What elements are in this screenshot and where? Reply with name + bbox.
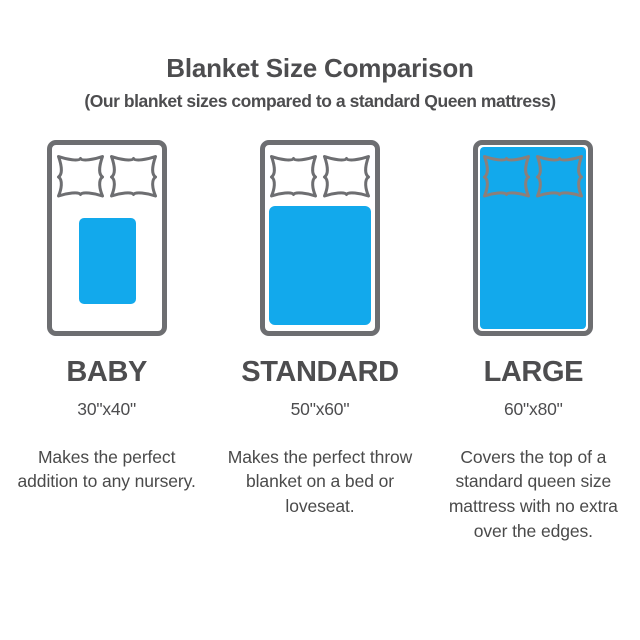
comparison-column-baby: BABY 30"x40" Makes the perfect addition … (0, 140, 213, 494)
size-name-label: BABY (66, 358, 147, 387)
comparison-column-standard: STANDARD 50"x60" Makes the perfect throw… (213, 140, 426, 519)
blanket-size-comparison-infographic: Blanket Size Comparison (Our blanket siz… (0, 0, 640, 640)
size-description-text: Covers the top of a standard queen size … (427, 445, 640, 544)
blanket-swatch-icon (269, 206, 371, 325)
page-title: Blanket Size Comparison (0, 54, 640, 83)
pillow-icon (534, 152, 585, 200)
pillow-icon (108, 152, 159, 200)
size-description-text: Makes the perfect throw blanket on a bed… (213, 445, 426, 520)
pillow-icon (321, 152, 372, 200)
size-description-text: Makes the perfect addition to any nurser… (0, 445, 213, 495)
size-dimensions-label: 30"x40" (77, 401, 136, 419)
pillow-icon (55, 152, 106, 200)
pillow-group (268, 152, 372, 200)
size-dimensions-label: 50"x60" (291, 401, 350, 419)
pillow-icon (268, 152, 319, 200)
size-name-label: LARGE (484, 358, 584, 387)
bed-diagram-large (473, 140, 593, 336)
pillow-group (55, 152, 159, 200)
bed-diagram-baby (47, 140, 167, 336)
page-subtitle: (Our blanket sizes compared to a standar… (0, 91, 640, 111)
comparison-columns: BABY 30"x40" Makes the perfect addition … (0, 140, 640, 544)
bed-diagram-standard (260, 140, 380, 336)
heading-block: Blanket Size Comparison (Our blanket siz… (0, 54, 640, 111)
size-dimensions-label: 60"x80" (504, 401, 563, 419)
comparison-column-large: LARGE 60"x80" Covers the top of a standa… (427, 140, 640, 544)
blanket-swatch-icon (79, 218, 136, 304)
size-name-label: STANDARD (241, 358, 398, 387)
pillow-icon (481, 152, 532, 200)
pillow-group (481, 152, 585, 200)
